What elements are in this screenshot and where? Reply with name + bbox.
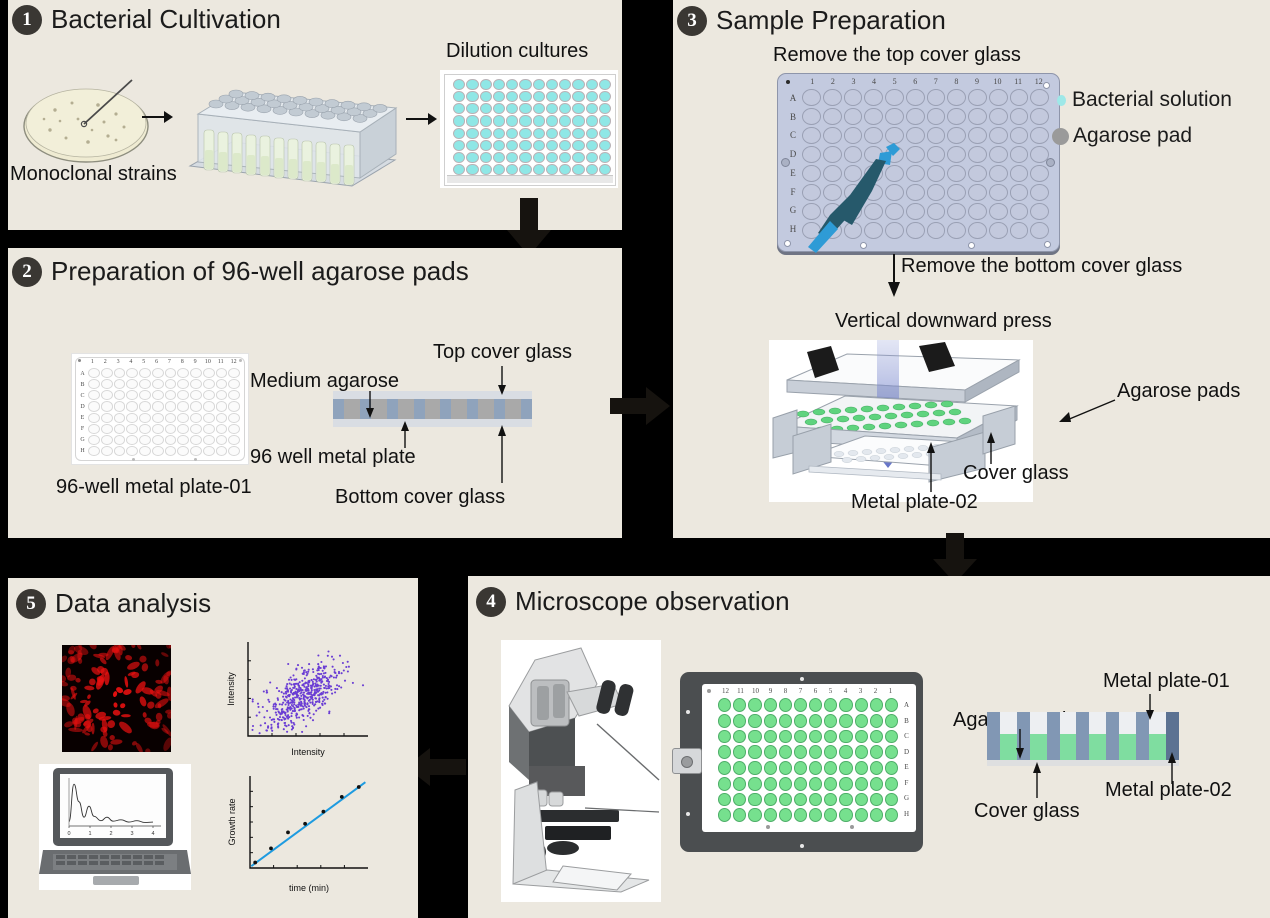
well xyxy=(809,730,822,744)
column-label: 6 xyxy=(808,688,823,697)
well xyxy=(572,128,584,139)
well xyxy=(190,401,202,411)
well xyxy=(779,777,792,791)
well xyxy=(586,103,598,114)
well xyxy=(165,379,177,389)
well xyxy=(559,79,571,90)
well xyxy=(466,79,478,90)
metal-plate-01-caption: 96-well metal plate-01 xyxy=(56,476,252,499)
well xyxy=(794,761,807,775)
well xyxy=(480,115,492,126)
well xyxy=(126,424,138,434)
well xyxy=(152,446,164,456)
well xyxy=(839,745,852,759)
well xyxy=(989,127,1008,144)
well xyxy=(519,79,531,90)
well xyxy=(870,698,883,712)
well xyxy=(559,128,571,139)
well xyxy=(453,140,465,151)
well xyxy=(152,379,164,389)
row-label: C xyxy=(901,733,912,740)
well xyxy=(480,164,492,175)
agarose-block xyxy=(425,399,441,419)
well xyxy=(809,793,822,807)
well xyxy=(748,698,761,712)
well xyxy=(88,368,100,378)
leader-metal-plate-icon xyxy=(398,420,412,450)
well xyxy=(480,128,492,139)
dilution-cultures-label: Dilution cultures xyxy=(446,40,588,63)
well xyxy=(126,379,138,389)
well xyxy=(885,761,898,775)
well xyxy=(190,368,202,378)
well xyxy=(559,164,571,175)
well xyxy=(533,91,545,102)
legend-agarose-pad-label: Agarose pad xyxy=(1073,124,1192,148)
well xyxy=(794,793,807,807)
well xyxy=(546,115,558,126)
well xyxy=(764,714,777,728)
well xyxy=(493,164,505,175)
well xyxy=(506,91,518,102)
row-label: E xyxy=(901,764,912,771)
well xyxy=(824,793,837,807)
well xyxy=(139,435,151,445)
panel-3-title-text: Sample Preparation xyxy=(716,5,946,36)
well xyxy=(870,777,883,791)
well xyxy=(572,152,584,163)
well xyxy=(533,140,545,151)
well xyxy=(870,745,883,759)
metal-divider xyxy=(467,399,478,419)
svg-text:Growth rate: Growth rate xyxy=(227,798,237,845)
row-label: B xyxy=(787,113,799,122)
well xyxy=(101,379,113,389)
well xyxy=(839,777,852,791)
well xyxy=(794,714,807,728)
well xyxy=(126,401,138,411)
well xyxy=(802,89,821,106)
well xyxy=(216,435,228,445)
column-label: 2 xyxy=(99,359,112,367)
column-label: 5 xyxy=(137,359,150,367)
vertical-downward-press-label: Vertical downward press xyxy=(835,310,1052,333)
well xyxy=(228,435,240,445)
well xyxy=(139,413,151,423)
metal-divider xyxy=(387,399,398,419)
well xyxy=(599,115,611,126)
metal-plate-01-label-panel4: Metal plate-01 xyxy=(1103,670,1230,693)
well xyxy=(546,91,558,102)
well xyxy=(989,184,1008,201)
well xyxy=(779,745,792,759)
well xyxy=(190,379,202,389)
svg-text:4: 4 xyxy=(151,831,154,837)
well xyxy=(88,435,100,445)
well xyxy=(809,808,822,822)
well xyxy=(190,413,202,423)
panel-sample-preparation: 3 Sample Preparation Remove the top cove… xyxy=(673,0,1270,538)
well xyxy=(947,127,966,144)
well xyxy=(885,777,898,791)
well xyxy=(506,164,518,175)
well xyxy=(190,435,202,445)
well xyxy=(228,401,240,411)
well xyxy=(586,115,598,126)
well xyxy=(1010,127,1029,144)
well xyxy=(493,128,505,139)
well xyxy=(1010,222,1029,239)
well xyxy=(152,401,164,411)
well xyxy=(114,424,126,434)
well xyxy=(870,730,883,744)
well xyxy=(165,390,177,400)
well xyxy=(216,446,228,456)
well xyxy=(906,108,925,125)
well xyxy=(466,91,478,102)
well xyxy=(885,745,898,759)
well xyxy=(152,390,164,400)
column-label: 9 xyxy=(763,688,778,697)
well xyxy=(572,91,584,102)
well xyxy=(989,89,1008,106)
column-label: 2 xyxy=(868,688,883,697)
metal-plate-02-label-panel3: Metal plate-02 xyxy=(851,491,978,514)
column-label: 7 xyxy=(926,78,947,87)
well xyxy=(493,79,505,90)
well xyxy=(572,103,584,114)
well xyxy=(947,146,966,163)
well xyxy=(764,808,777,822)
well xyxy=(177,413,189,423)
green-well-plate: 121110987654321 ABCDEFGH xyxy=(702,684,916,832)
well xyxy=(190,390,202,400)
well xyxy=(519,91,531,102)
well xyxy=(177,379,189,389)
well xyxy=(453,115,465,126)
well xyxy=(480,140,492,151)
well xyxy=(599,164,611,175)
well xyxy=(1030,127,1049,144)
column-label: 10 xyxy=(748,688,763,697)
column-label: 6 xyxy=(905,78,926,87)
well xyxy=(126,435,138,445)
well xyxy=(519,164,531,175)
svg-text:time (min): time (min) xyxy=(289,883,329,893)
well xyxy=(809,777,822,791)
well xyxy=(114,401,126,411)
well xyxy=(824,777,837,791)
column-label: 12 xyxy=(718,688,733,697)
well xyxy=(572,115,584,126)
well xyxy=(572,164,584,175)
panel-1-title: 1 Bacterial Cultivation xyxy=(12,4,281,35)
well xyxy=(466,164,478,175)
well xyxy=(764,761,777,775)
well xyxy=(864,108,883,125)
well xyxy=(533,115,545,126)
well xyxy=(546,128,558,139)
well xyxy=(493,152,505,163)
well xyxy=(228,390,240,400)
leader-cover-glass-panel4-icon xyxy=(1030,758,1044,800)
culture-tube-rack-illustration xyxy=(180,74,400,194)
well xyxy=(101,424,113,434)
well xyxy=(870,761,883,775)
well xyxy=(216,368,228,378)
well xyxy=(114,446,126,456)
well xyxy=(855,698,868,712)
well xyxy=(493,91,505,102)
well xyxy=(216,424,228,434)
well xyxy=(228,413,240,423)
well xyxy=(809,745,822,759)
row-label: G xyxy=(78,437,87,443)
well xyxy=(855,808,868,822)
well xyxy=(1030,89,1049,106)
panel-agarose-pad-preparation: 2 Preparation of 96-well agarose pads 12… xyxy=(8,248,622,538)
well xyxy=(968,146,987,163)
well xyxy=(824,714,837,728)
well xyxy=(203,379,215,389)
leader-metal-plate-02-icon xyxy=(1165,748,1179,786)
well xyxy=(855,761,868,775)
panel-3-title: 3 Sample Preparation xyxy=(677,5,946,36)
row-label: H xyxy=(78,448,87,454)
well xyxy=(228,368,240,378)
well xyxy=(764,793,777,807)
well xyxy=(546,152,558,163)
well xyxy=(114,435,126,445)
well xyxy=(599,128,611,139)
well xyxy=(165,446,177,456)
agarose-block xyxy=(451,399,467,419)
well xyxy=(216,379,228,389)
well xyxy=(927,89,946,106)
well xyxy=(533,128,545,139)
well xyxy=(823,108,842,125)
well xyxy=(586,140,598,151)
well xyxy=(779,730,792,744)
well xyxy=(885,793,898,807)
well xyxy=(1030,222,1049,239)
remove-top-cover-glass-label: Remove the top cover glass xyxy=(773,44,1021,67)
well xyxy=(733,793,746,807)
well xyxy=(764,730,777,744)
well xyxy=(968,222,987,239)
panel-5-badge: 5 xyxy=(16,589,46,619)
well xyxy=(718,777,731,791)
leader-bottom-cover-glass-icon xyxy=(495,423,509,485)
metal-divider xyxy=(521,399,532,419)
dilution-culture-plate xyxy=(440,70,618,188)
well xyxy=(1010,146,1029,163)
well xyxy=(228,424,240,434)
well xyxy=(559,91,571,102)
well xyxy=(733,714,746,728)
well xyxy=(599,79,611,90)
well xyxy=(870,808,883,822)
well xyxy=(453,128,465,139)
well xyxy=(1030,184,1049,201)
well xyxy=(599,152,611,163)
well xyxy=(718,808,731,822)
svg-text:3: 3 xyxy=(130,831,133,837)
well xyxy=(114,379,126,389)
svg-text:Intensity: Intensity xyxy=(291,747,325,757)
well xyxy=(885,698,898,712)
panel-2-badge: 2 xyxy=(12,257,42,287)
well xyxy=(718,745,731,759)
well xyxy=(453,152,465,163)
well xyxy=(139,401,151,411)
panel-1-badge: 1 xyxy=(12,5,42,35)
sample-plate-top-view: 123456789101112 ABCDEFGH xyxy=(777,73,1060,252)
well xyxy=(453,103,465,114)
well xyxy=(506,79,518,90)
well xyxy=(839,730,852,744)
leader-metal-plate-01-icon xyxy=(1143,694,1157,722)
well xyxy=(101,413,113,423)
well xyxy=(88,390,100,400)
well xyxy=(506,140,518,151)
well xyxy=(190,446,202,456)
well xyxy=(927,146,946,163)
well xyxy=(968,127,987,144)
well xyxy=(152,435,164,445)
well xyxy=(228,446,240,456)
well xyxy=(718,730,731,744)
well xyxy=(139,368,151,378)
column-label: 5 xyxy=(884,78,905,87)
well xyxy=(718,714,731,728)
well xyxy=(802,108,821,125)
legend-bacterial-solution-label: Bacterial solution xyxy=(1072,88,1232,112)
panel-data-analysis: 5 Data analysis 01234 xyxy=(8,578,418,918)
well xyxy=(870,714,883,728)
well xyxy=(906,89,925,106)
well xyxy=(968,203,987,220)
leader-top-cover-glass-icon xyxy=(495,366,509,396)
well xyxy=(88,413,100,423)
well xyxy=(165,368,177,378)
well xyxy=(824,730,837,744)
well xyxy=(101,390,113,400)
column-label: 8 xyxy=(176,359,189,367)
arrow-panel2-to-panel3-icon xyxy=(610,385,672,429)
row-label: H xyxy=(901,811,912,818)
well xyxy=(493,115,505,126)
well xyxy=(165,401,177,411)
monoclonal-strains-label: Monoclonal strains xyxy=(10,163,177,186)
well xyxy=(927,108,946,125)
well xyxy=(126,368,138,378)
panel-2-title: 2 Preparation of 96-well agarose pads xyxy=(12,256,469,287)
well xyxy=(989,146,1008,163)
well xyxy=(989,222,1008,239)
column-label: 8 xyxy=(946,78,967,87)
well xyxy=(126,446,138,456)
well xyxy=(885,808,898,822)
well xyxy=(748,714,761,728)
panel-1-title-text: Bacterial Cultivation xyxy=(51,4,281,35)
well xyxy=(152,424,164,434)
well xyxy=(733,808,746,822)
well xyxy=(572,79,584,90)
well xyxy=(114,390,126,400)
fluorescence-microscopy-image xyxy=(62,645,171,752)
well xyxy=(748,761,761,775)
scatter-plot-intensity: IntensityIntensity xyxy=(222,636,372,761)
well xyxy=(794,808,807,822)
column-label: 11 xyxy=(733,688,748,697)
well xyxy=(855,730,868,744)
well xyxy=(989,203,1008,220)
column-label: 4 xyxy=(838,688,853,697)
well xyxy=(139,379,151,389)
well xyxy=(844,108,863,125)
row-label: A xyxy=(78,371,87,377)
column-label: 10 xyxy=(987,78,1008,87)
well xyxy=(519,128,531,139)
panel-bacterial-cultivation: 1 Bacterial Cultivation Monoclonal strai… xyxy=(8,0,622,230)
well xyxy=(824,761,837,775)
well xyxy=(177,401,189,411)
well xyxy=(718,761,731,775)
column-label: 9 xyxy=(967,78,988,87)
well xyxy=(927,222,946,239)
well xyxy=(114,413,126,423)
leader-cover-glass-icon xyxy=(983,430,999,466)
well xyxy=(885,108,904,125)
well xyxy=(1030,108,1049,125)
well xyxy=(885,730,898,744)
panel-3-badge: 3 xyxy=(677,6,707,36)
well xyxy=(126,413,138,423)
well xyxy=(466,140,478,151)
well xyxy=(864,89,883,106)
well xyxy=(177,368,189,378)
well xyxy=(718,698,731,712)
well xyxy=(718,793,731,807)
column-label: 7 xyxy=(163,359,176,367)
microscope-stage-clip-icon xyxy=(672,748,702,774)
well xyxy=(794,698,807,712)
well xyxy=(947,184,966,201)
well xyxy=(533,79,545,90)
well xyxy=(139,446,151,456)
well xyxy=(947,89,966,106)
well xyxy=(466,103,478,114)
well xyxy=(764,745,777,759)
well xyxy=(101,401,113,411)
well xyxy=(748,808,761,822)
metal-divider xyxy=(414,399,425,419)
column-label: 1 xyxy=(883,688,898,697)
well xyxy=(190,424,202,434)
agarose-block xyxy=(344,399,360,419)
well xyxy=(779,793,792,807)
well xyxy=(480,79,492,90)
well xyxy=(546,103,558,114)
well xyxy=(88,446,100,456)
well xyxy=(733,698,746,712)
svg-text:Intensity: Intensity xyxy=(226,672,236,706)
svg-text:1: 1 xyxy=(88,831,91,837)
column-label: 7 xyxy=(793,688,808,697)
column-label: 3 xyxy=(853,688,868,697)
well xyxy=(733,761,746,775)
